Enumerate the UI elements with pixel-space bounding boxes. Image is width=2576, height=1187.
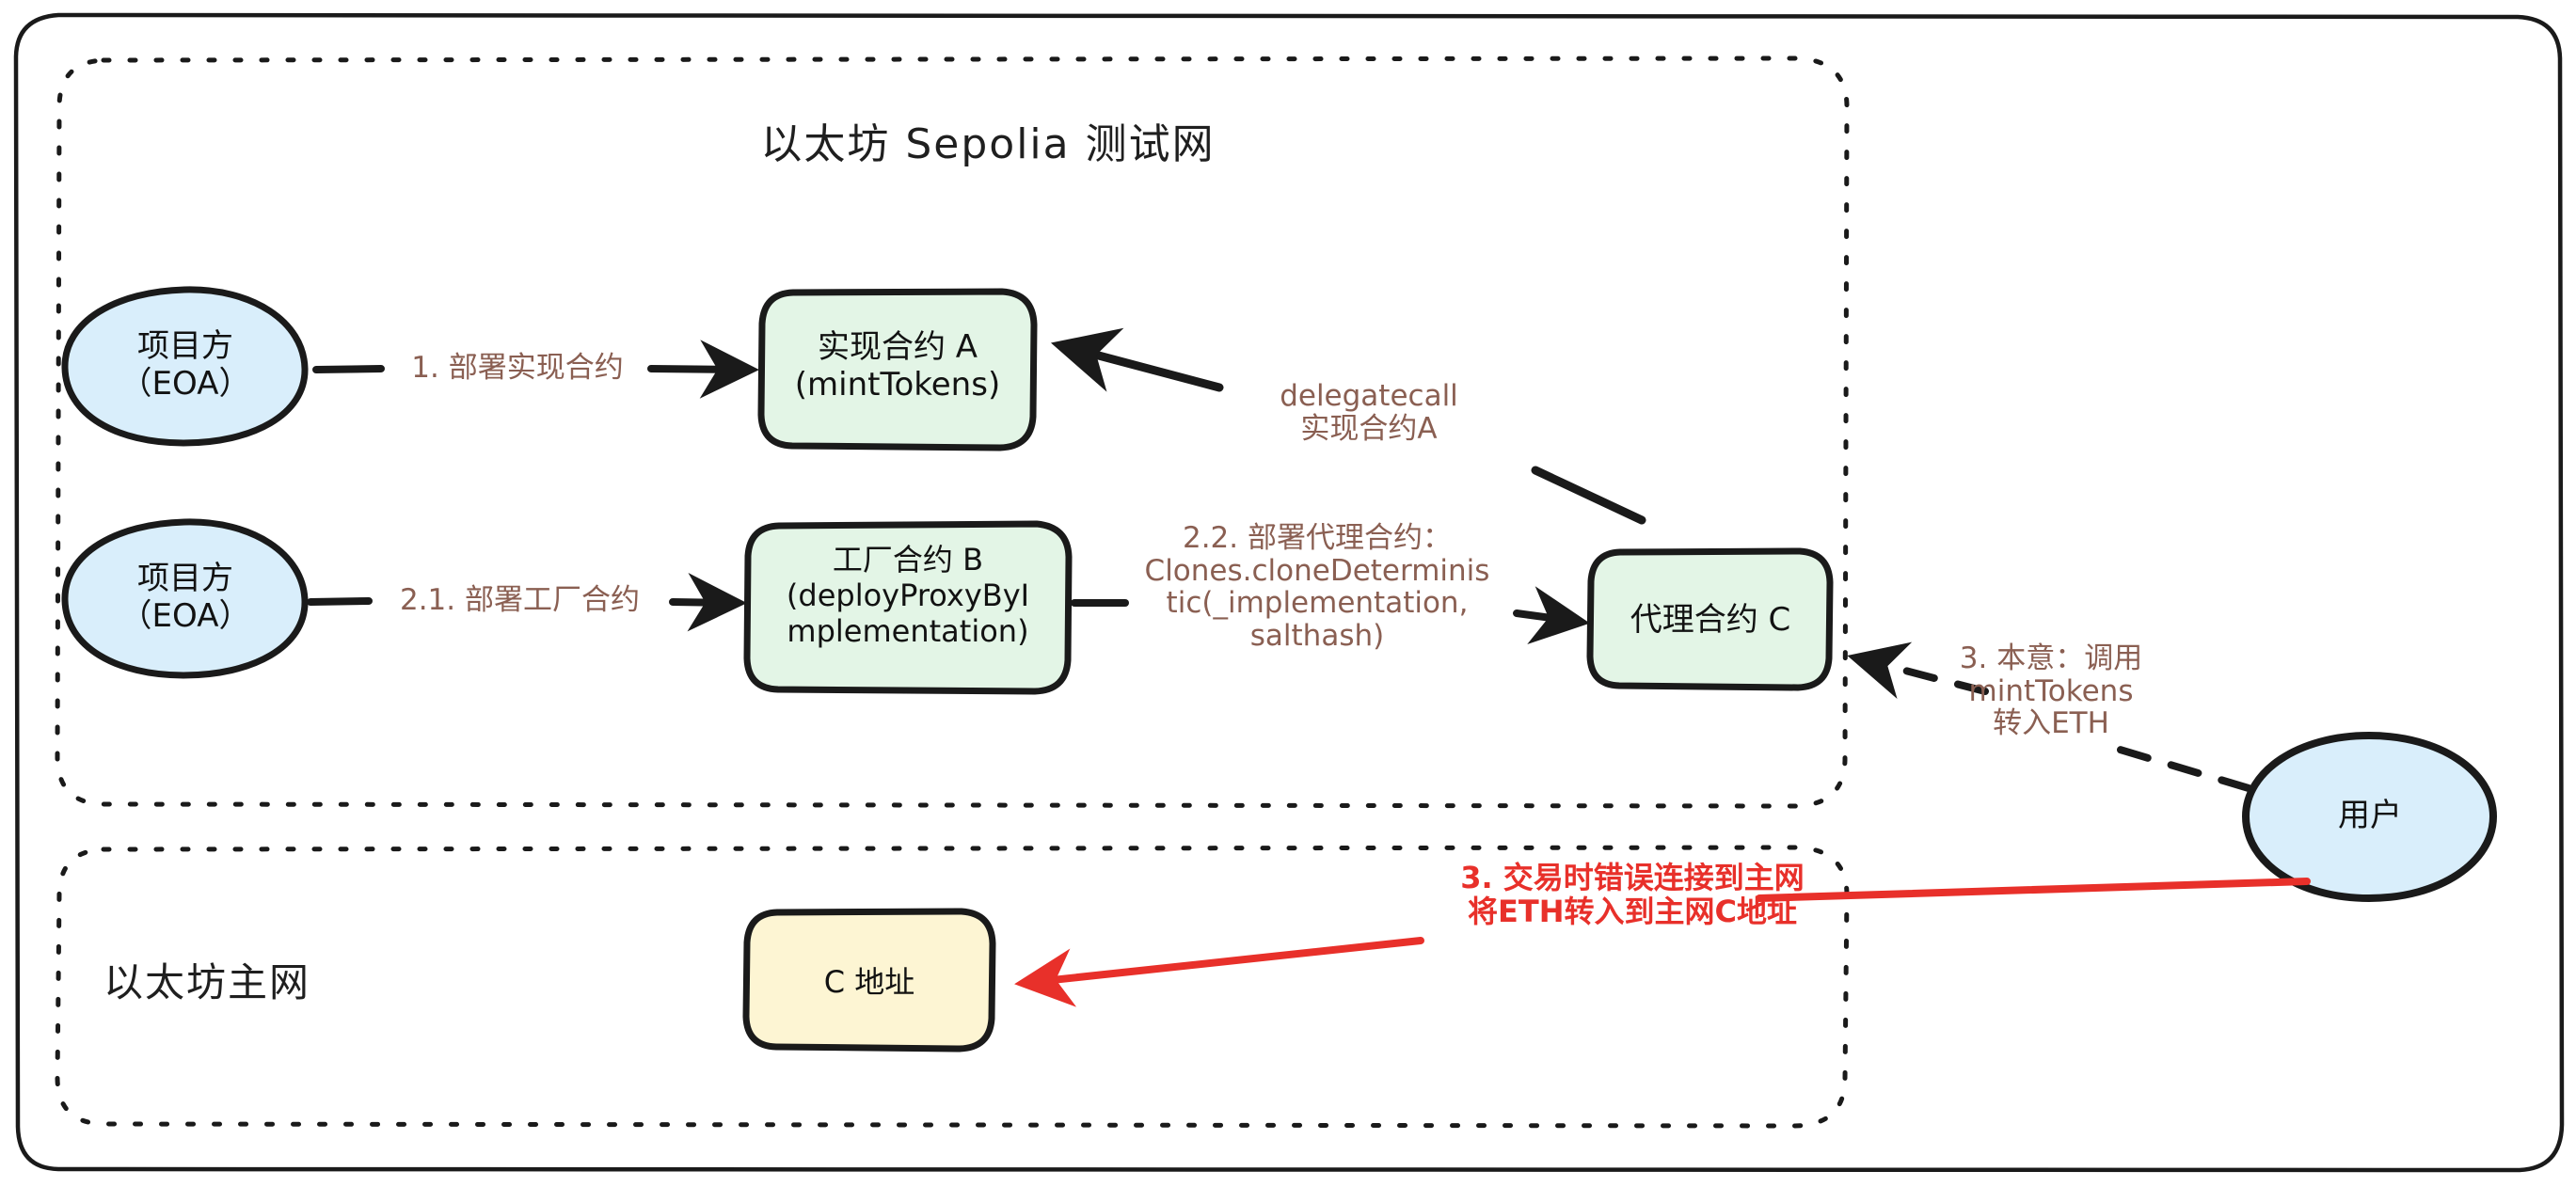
edge-wrong-network — [1026, 881, 2307, 983]
node-factory-b[interactable] — [747, 524, 1069, 691]
outer-frame — [16, 15, 2562, 1170]
node-eoa2[interactable] — [65, 522, 305, 675]
node-c-address[interactable] — [746, 911, 993, 1049]
node-impl-a[interactable] — [761, 292, 1034, 448]
diagram-canvas: 以太坊 Sepolia 测试网 以太坊主网 项目方 （EOA） 项目方 （EOA… — [0, 0, 2576, 1187]
node-proxy-c[interactable] — [1590, 551, 1830, 688]
edge-user-intent — [1858, 658, 2249, 788]
edge-delegatecall — [1063, 346, 1642, 520]
edge-deploy-factory — [310, 601, 736, 603]
node-eoa1[interactable] — [65, 290, 305, 443]
diagram-graphics — [0, 0, 2576, 1187]
edge-deploy-proxy — [1074, 603, 1579, 622]
edge-deploy-impl — [316, 369, 748, 370]
node-user[interactable] — [2246, 736, 2493, 898]
